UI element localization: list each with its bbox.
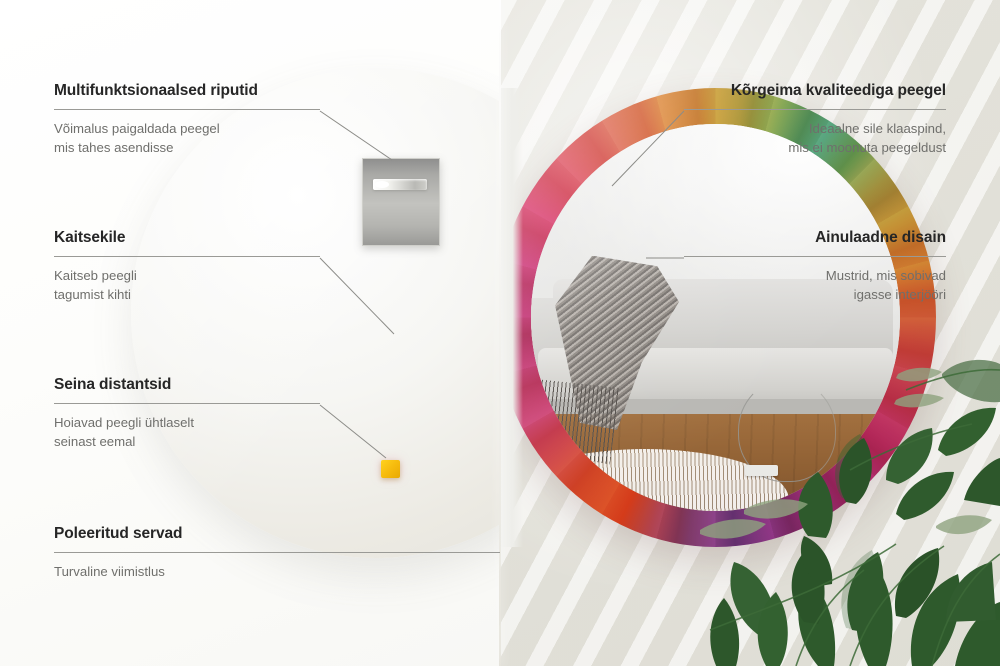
callout-rule <box>54 256 320 257</box>
callout-rule <box>684 109 946 110</box>
callout-title: Poleeritud servad <box>54 525 500 543</box>
mirror-left-seam <box>499 88 523 547</box>
callout-description: Ideaalne sile klaaspind, mis ei moonuta … <box>684 120 946 157</box>
callout-multifunctional-hangers: Multifunktsionaalsed riputid Võimalus pa… <box>54 82 320 157</box>
callout-description: Turvaline viimistlus <box>54 563 500 582</box>
wall-hanger-plate-icon <box>362 158 440 246</box>
callout-description: Kaitseb peegli tagumist kihti <box>54 267 320 304</box>
callout-wall-spacers: Seina distantsid Hoiavad peegli ühtlasel… <box>54 376 320 451</box>
infographic-stage: Multifunktsionaalsed riputid Võimalus pa… <box>0 0 1000 666</box>
hanger-keyhole-slot <box>373 179 427 190</box>
callout-polished-edges: Poleeritud servad Turvaline viimistlus <box>54 525 500 582</box>
callout-title: Kaitsekile <box>54 229 320 247</box>
callout-rule <box>54 109 320 110</box>
callout-protective-film: Kaitsekile Kaitseb peegli tagumist kihti <box>54 229 320 304</box>
throw-blanket-fringe <box>538 379 619 464</box>
callout-description: Mustrid, mis sobivad igasse interjööri <box>684 267 946 304</box>
callout-highest-quality-mirror: Kõrgeima kvaliteediga peegel Ideaalne si… <box>684 82 946 157</box>
callout-title: Kõrgeima kvaliteediga peegel <box>684 82 946 100</box>
callout-title: Multifunktsionaalsed riputid <box>54 82 320 100</box>
callout-description: Võimalus paigaldada peegel mis tahes ase… <box>54 120 320 157</box>
callout-rule <box>54 403 320 404</box>
callout-unique-design: Ainulaadne disain Mustrid, mis sobivad i… <box>684 229 946 304</box>
callout-description: Hoiavad peegli ühtlaselt seinast eemal <box>54 414 320 451</box>
callout-title: Seina distantsid <box>54 376 320 394</box>
callout-rule <box>54 552 500 553</box>
callout-title: Ainulaadne disain <box>684 229 946 247</box>
callout-rule <box>684 256 946 257</box>
yellow-spacer-icon <box>381 460 400 478</box>
plant-leaves-icon <box>700 330 1000 666</box>
